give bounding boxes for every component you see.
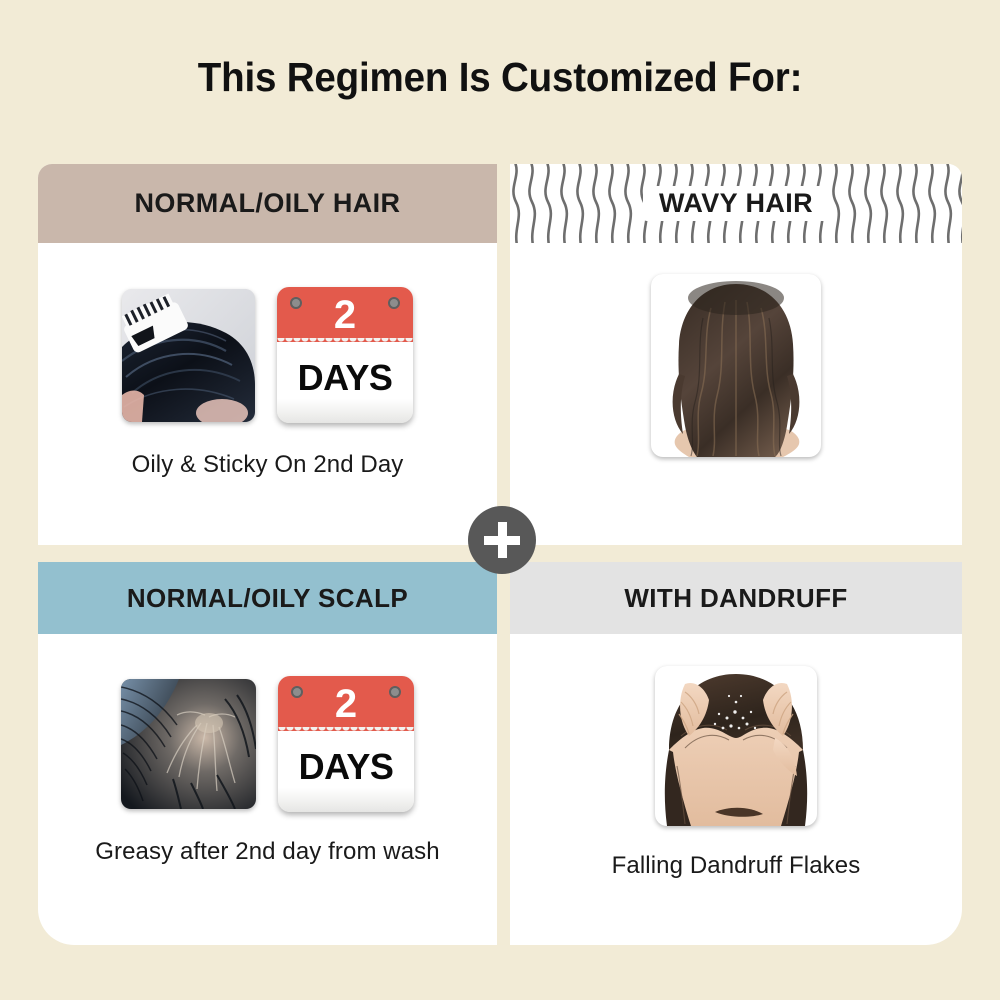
card-header-label: NORMAL/OILY SCALP [127,583,408,614]
card-caption: Oily & Sticky On 2nd Day [132,451,404,479]
media-row [655,666,817,826]
calendar-perforation [278,727,414,736]
media-row: 2 DAYS [122,287,413,423]
card-wavy-hair: WAVY HAIR [510,164,962,545]
card-header-with-dandruff: WITH DANDRUFF [510,562,962,634]
calendar-number: 2 [278,677,414,731]
card-header-label: WITH DANDRUFF [624,583,847,614]
card-caption: Falling Dandruff Flakes [612,852,861,880]
long-wavy-brown-hair-back-view-photo [651,274,821,457]
card-header-label: NORMAL/OILY HAIR [135,188,401,219]
calendar-unit-label: DAYS [299,746,394,788]
card-with-dandruff: WITH DANDRUFF [510,562,962,945]
card-normal-oily-hair: NORMAL/OILY HAIR [38,164,497,545]
calendar-unit-label: DAYS [298,357,393,399]
card-header-label: WAVY HAIR [643,186,829,221]
plus-badge [468,506,536,574]
card-body-with-dandruff: Falling Dandruff Flakes [510,634,962,945]
card-normal-oily-scalp: NORMAL/OILY SCALP [38,562,497,945]
calendar-icon-2-days: 2 DAYS [277,287,413,423]
card-body-normal-oily-hair: 2 DAYS Oily & Sticky On 2nd Day [38,243,497,545]
media-row [651,274,821,457]
oily-hair-with-comb-photo [122,289,255,422]
calendar-icon-2-days: 2 DAYS [278,676,414,812]
calendar-perforation [277,338,413,347]
card-body-normal-oily-scalp: 2 DAYS Greasy after 2nd day from wash [38,634,497,945]
page-title: This Regimen Is Customized For: [30,54,970,101]
calendar-bottom: DAYS [278,731,414,812]
calendar-top: 2 [277,287,413,342]
card-header-wavy-hair: WAVY HAIR [510,164,962,243]
plus-icon-vertical-bar [498,522,507,558]
oily-scalp-crown-photo [121,679,256,809]
card-header-normal-oily-scalp: NORMAL/OILY SCALP [38,562,497,634]
calendar-bottom: DAYS [277,342,413,423]
hands-parting-hair-showing-dandruff-photo [655,666,817,826]
card-caption: Greasy after 2nd day from wash [95,838,439,866]
calendar-number: 2 [277,288,413,342]
media-row: 2 DAYS [121,676,414,812]
calendar-top: 2 [278,676,414,731]
card-body-wavy-hair [510,243,962,545]
card-header-normal-oily-hair: NORMAL/OILY HAIR [38,164,497,243]
